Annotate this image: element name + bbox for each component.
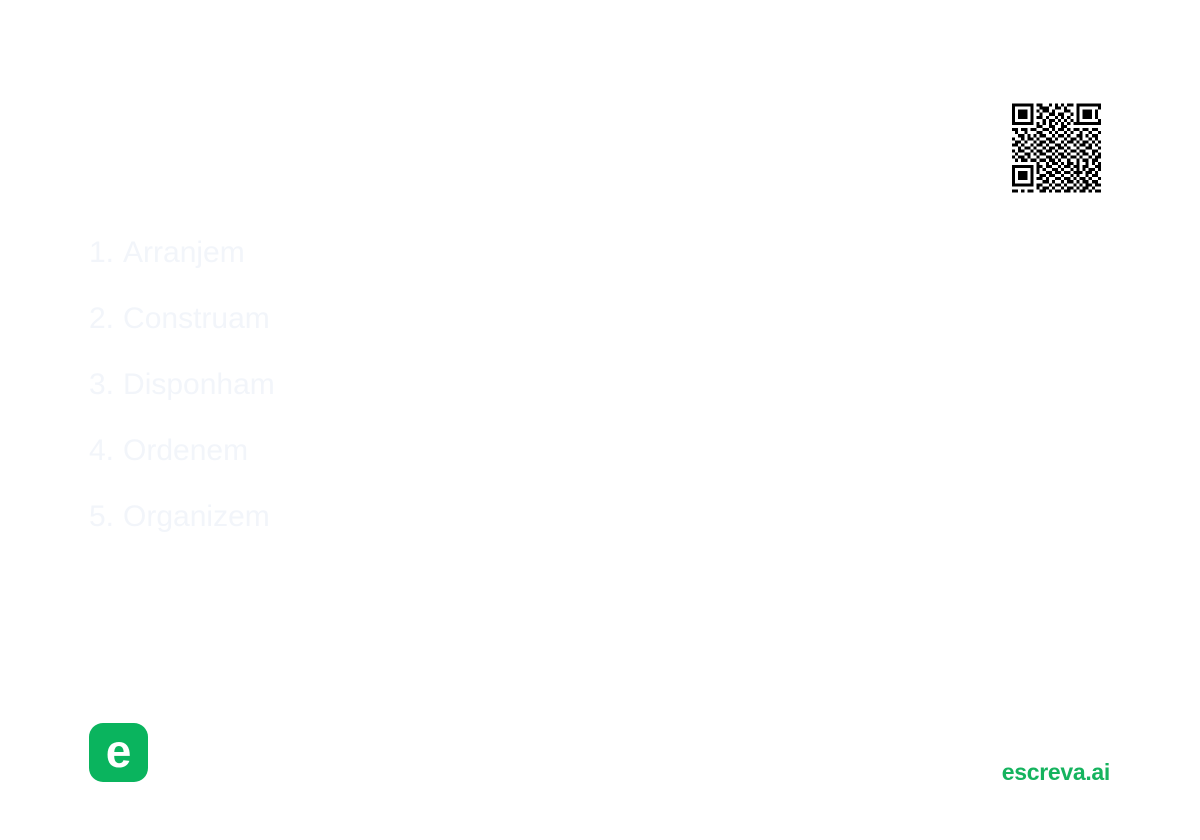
escreva-app-badge[interactable]: e — [89, 723, 148, 782]
list-item-number: 5. — [89, 500, 114, 533]
brand-domain: escreva.ai — [903, 760, 1110, 785]
list-item-word: Ordenem — [123, 434, 248, 467]
synonym-card: Estruturem Sinônimos 1.Arranjem2.Constru… — [0, 0, 1200, 840]
list-item-word: Disponham — [123, 368, 275, 401]
list-item: 1.Arranjem — [89, 236, 275, 302]
brand-name: SINÔNIMOS — [903, 722, 1110, 762]
list-item-word: Arranjem — [123, 236, 245, 269]
list-item: 5.Organizem — [89, 500, 275, 566]
letter-e-icon: e — [89, 723, 148, 782]
page-subtitle: Sinônimos — [89, 168, 227, 200]
list-item-number: 2. — [89, 302, 114, 335]
qr-code-container[interactable] — [1003, 94, 1110, 203]
list-item-word: Construam — [123, 302, 270, 335]
list-item-number: 4. — [89, 434, 114, 467]
qr-code-icon — [1012, 103, 1101, 193]
synonyms-list: 1.Arranjem2.Construam3.Disponham4.Ordene… — [89, 236, 275, 566]
list-item-number: 1. — [89, 236, 114, 269]
list-item: 4.Ordenem — [89, 434, 275, 500]
list-item: 3.Disponham — [89, 368, 275, 434]
list-item-word: Organizem — [123, 500, 270, 533]
list-item: 2.Construam — [89, 302, 275, 368]
list-item-number: 3. — [89, 368, 114, 401]
brand-lockup: SINÔNIMOS escreva.ai — [903, 722, 1110, 785]
